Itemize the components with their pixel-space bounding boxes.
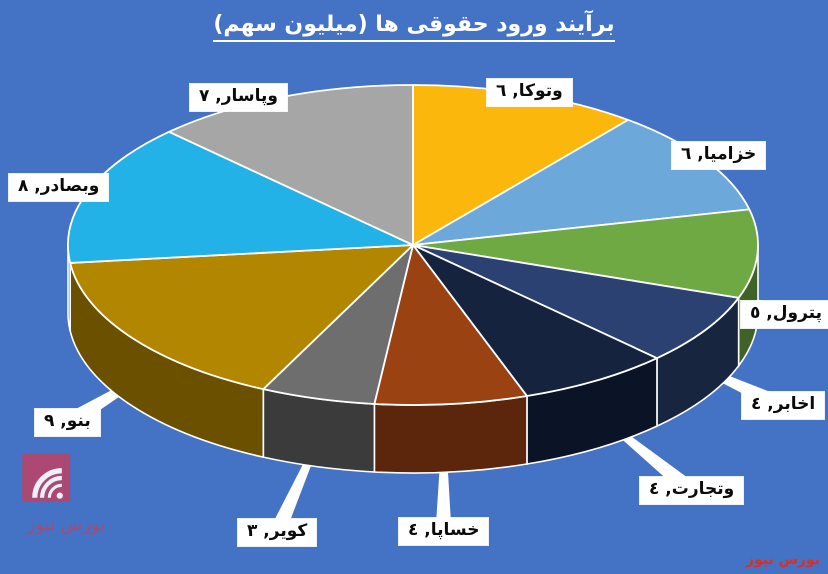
label-vatejarat: وتجارت, ٤ [640,477,743,504]
label-beno: بنو, ٩ [35,409,100,436]
label-akhaber: اخابر, ٤ [742,392,824,419]
page-title-text: برآیند ورود حقوقی ها (میلیون سهم) [213,12,614,42]
label-khazamia: خزامیا, ٦ [672,142,765,169]
page-title: برآیند ورود حقوقی ها (میلیون سهم) [0,12,828,37]
label-kavir: کویر, ٣ [238,519,316,546]
label-petrol: پترول, ٥ [741,301,828,328]
label-khesapa: خساپا, ٤ [399,518,488,545]
pie-slice-side-خساپا [374,396,527,473]
footer-brand-text: بورس نیوز [746,552,820,568]
chart-canvas: برآیند ورود حقوقی ها (میلیون سهم) وتوکا,… [0,0,828,574]
label-vapasar: وپاسار, ٧ [190,84,287,111]
pie-top-faces-group [68,85,758,405]
label-vabesader: وبصادر, ٨ [9,174,108,201]
label-votoka: وتوکا, ٦ [487,79,572,106]
